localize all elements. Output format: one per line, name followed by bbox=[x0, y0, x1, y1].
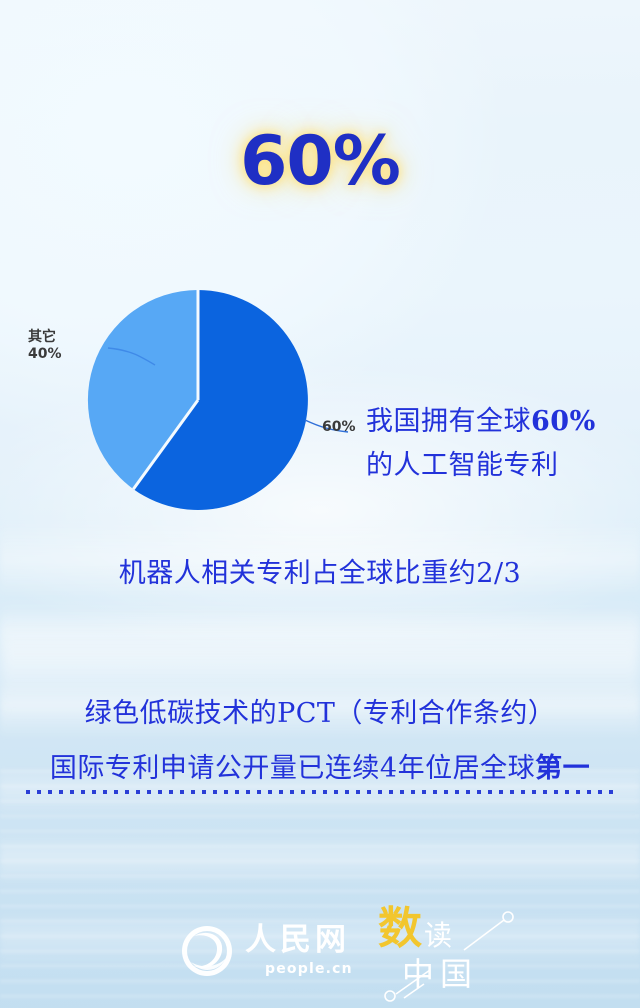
shudu-char-du: 读 bbox=[424, 922, 452, 950]
dotted-divider bbox=[26, 790, 614, 794]
decoration-circle-lower bbox=[385, 991, 395, 1001]
statement-green-pct-line2: 国际专利申请公开量已连续4年位居全球第一 bbox=[0, 746, 640, 785]
shudu-logo-line1: 数 读 bbox=[378, 908, 452, 950]
statement-green-pct-line1: 绿色低碳技术的PCT（专利合作条约） bbox=[0, 691, 640, 730]
footer: 人民网 people.cn 数 读 中 国 bbox=[0, 900, 640, 1008]
pie-label-main-value: 60% bbox=[322, 419, 356, 435]
decoration-circle-upper bbox=[503, 912, 513, 922]
people-logo-cn-name: 人民网 bbox=[245, 925, 353, 956]
people-logo-latin-name: people.cn bbox=[265, 961, 353, 977]
pie-label-other-name: 其它 bbox=[28, 329, 62, 346]
shudu-char-guo: 国 bbox=[440, 958, 472, 990]
pie-caption-line1-emphasis: 60% bbox=[531, 406, 596, 437]
infographic-poster: 60% 其它 40% 60% 我国拥有全球60% 的人工智能专利 机 bbox=[0, 0, 640, 1008]
pie-caption-line2: 的人工智能专利 bbox=[366, 444, 616, 488]
pie-label-main: 60% bbox=[322, 419, 356, 436]
pie-caption-line1: 我国拥有全球60% bbox=[366, 400, 616, 444]
statement-green-pct-emphasis: 第一 bbox=[535, 753, 590, 784]
people-cn-logo: 人民网 people.cn bbox=[178, 922, 353, 980]
statement-green-pct-prefix: 国际专利申请公开量已连续4年位居全球 bbox=[50, 753, 535, 784]
shudu-char-shu: 数 bbox=[378, 908, 422, 950]
statement-robot-patents: 机器人相关专利占全球比重约2/3 bbox=[0, 551, 640, 590]
shudu-logo-line2: 中 国 bbox=[402, 958, 472, 990]
pie-label-other: 其它 40% bbox=[28, 329, 62, 362]
decoration-line-upper bbox=[464, 920, 504, 950]
globe-swirl-icon bbox=[178, 922, 236, 980]
pie-label-other-value: 40% bbox=[28, 346, 62, 363]
people-logo-text: 人民网 people.cn bbox=[245, 925, 353, 977]
page-title: 60% bbox=[0, 122, 640, 201]
shudu-zhongguo-logo: 数 读 中 国 bbox=[378, 906, 528, 1002]
pie-caption: 我国拥有全球60% 的人工智能专利 bbox=[366, 400, 616, 487]
shudu-char-zhong: 中 bbox=[402, 958, 434, 990]
pie-caption-line1-prefix: 我国拥有全球 bbox=[366, 406, 531, 437]
